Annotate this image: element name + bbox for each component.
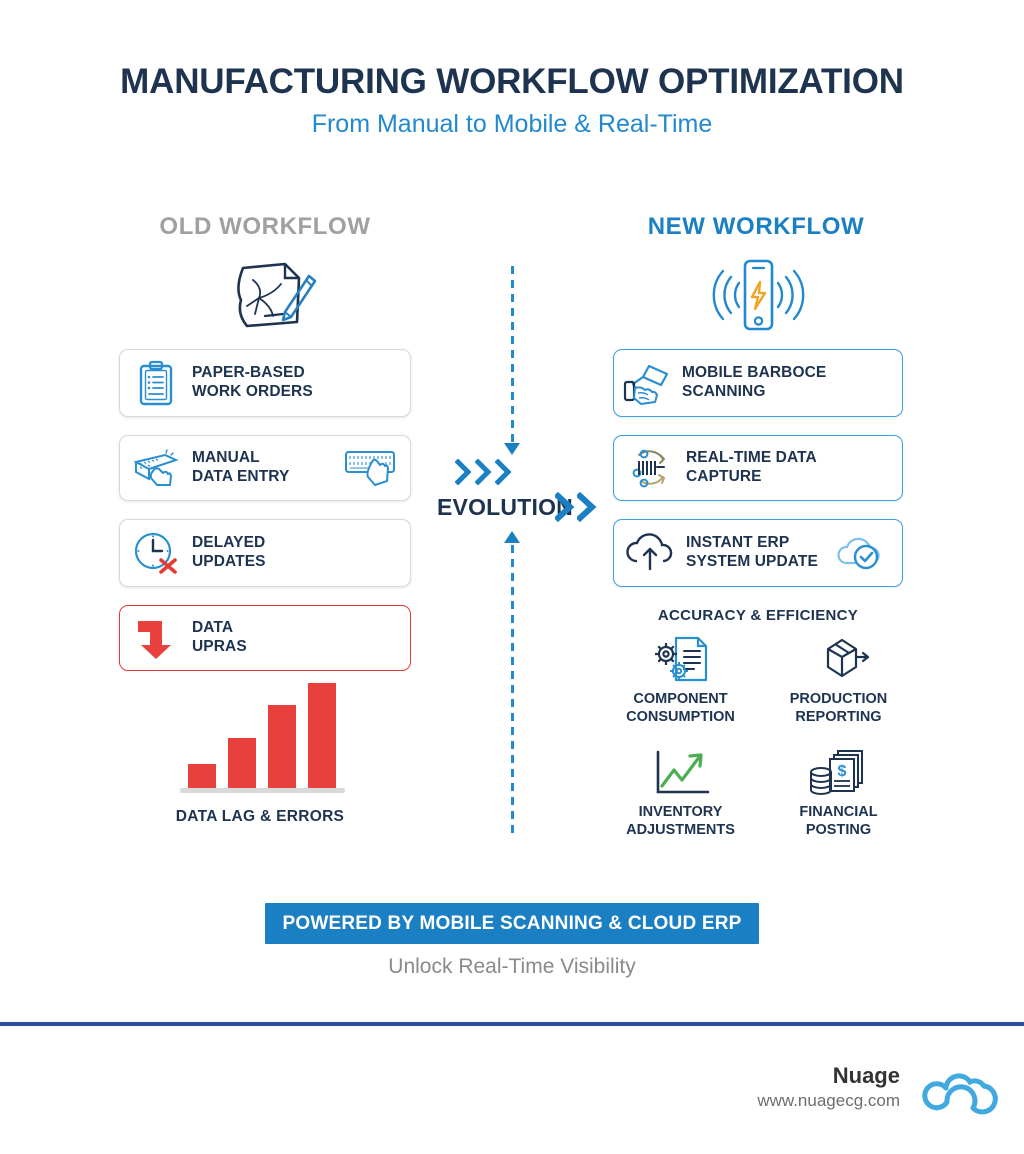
card-label: DATA UPRAS — [192, 619, 247, 657]
new-card-real-time-data-capture[interactable]: REAL-TIME DATA CAPTURE — [613, 435, 903, 501]
evolution-dashed-line-bottom — [511, 545, 514, 835]
chart-bar — [268, 705, 296, 788]
handheld-scanner-icon — [614, 360, 682, 406]
box-arrow-icon — [766, 632, 911, 690]
card-label-line1: PAPER-BASED — [192, 364, 305, 381]
powered-by-banner: POWERED BY MOBILE SCANNING & CLOUD ERP — [265, 903, 759, 944]
cloud-upload-icon — [614, 531, 686, 575]
document-gears-icon — [608, 632, 753, 690]
evolution-dashed-line-top — [511, 266, 514, 444]
benefit-label-line1: PRODUCTION — [790, 691, 887, 707]
chart-bar — [308, 683, 336, 788]
evolution-chevrons-inline — [555, 492, 597, 522]
card-label-line1: MANUAL — [192, 449, 260, 466]
keyboard-typing-icon — [344, 448, 410, 488]
card-label-line1: INSTANT ERP — [686, 534, 789, 551]
arrow-down-icon — [504, 443, 520, 455]
benefit-label-line1: COMPONENT — [633, 691, 727, 707]
old-workflow-heading: OLD WORKFLOW — [115, 213, 415, 241]
infographic-canvas: MANUFACTURING WORKFLOW OPTIMIZATION From… — [0, 0, 1024, 1154]
card-label: REAL-TIME DATA CAPTURE — [686, 449, 817, 487]
card-label-line1: REAL-TIME DATA — [686, 449, 817, 466]
chevron-right-icon — [555, 492, 575, 522]
benefit-label: PRODUCTION REPORTING — [790, 691, 887, 725]
card-label-line2: SYSTEM UPDATE — [686, 553, 818, 572]
coins-invoice-icon: $ — [766, 745, 911, 803]
footer-divider — [0, 1022, 1024, 1026]
benefit-component-consumption[interactable]: COMPONENT CONSUMPTION — [608, 632, 753, 726]
card-label-line1: DELAYED — [192, 534, 265, 551]
chart-title: DATA LAG & ERRORS — [120, 808, 400, 826]
evolution-chevrons-top — [455, 459, 513, 485]
evolution-label: EVOLUTION — [437, 494, 573, 521]
chevron-right-icon — [455, 459, 473, 485]
chart-bar — [228, 738, 256, 788]
card-label: INSTANT ERP SYSTEM UPDATE — [686, 534, 818, 572]
chevron-right-icon — [495, 459, 513, 485]
new-card-mobile-barcode-scanning[interactable]: MOBILE BARBOCE SCANNING — [613, 349, 903, 417]
cloud-check-icon — [832, 533, 902, 573]
card-label-line2: DATA ENTRY — [192, 468, 289, 487]
arrow-up-icon — [504, 531, 520, 543]
page-subtitle: From Manual to Mobile & Real-Time — [0, 110, 1024, 139]
tagline: Unlock Real-Time Visibility — [0, 955, 1024, 979]
benefit-label-line1: FINANCIAL — [799, 804, 877, 820]
down-arrow-icon — [120, 615, 192, 661]
footer-brand: Nuage www.nuagecg.com — [757, 1064, 900, 1111]
card-label-line1: DATA — [192, 619, 233, 636]
benefit-label: INVENTORY ADJUSTMENTS — [626, 804, 735, 838]
old-card-manual-data-entry[interactable]: MANUAL DATA ENTRY — [119, 435, 411, 501]
benefit-label-line2: CONSUMPTION — [626, 709, 735, 725]
nuage-cloud-logo-icon — [921, 1068, 999, 1131]
card-label-line1: MOBILE BARBOCE SCANNING — [682, 364, 826, 400]
brand-url: www.nuagecg.com — [757, 1090, 900, 1111]
growth-chart-icon — [608, 745, 753, 803]
data-lag-errors-chart — [180, 683, 345, 793]
chevron-right-icon — [577, 492, 597, 522]
old-card-data-upras[interactable]: DATA UPRAS — [119, 605, 411, 671]
new-card-instant-erp-system-update[interactable]: INSTANT ERP SYSTEM UPDATE — [613, 519, 903, 587]
brand-name: Nuage — [757, 1064, 900, 1088]
keyboard-hand-icon — [120, 448, 192, 488]
benefit-label-line2: ADJUSTMENTS — [626, 822, 735, 838]
benefit-inventory-adjustments[interactable]: INVENTORY ADJUSTMENTS — [608, 745, 753, 839]
benefit-label-line1: INVENTORY — [639, 804, 723, 820]
benefit-label-line2: REPORTING — [795, 709, 881, 725]
benefit-label-line2: POSTING — [806, 822, 871, 838]
barcode-refresh-icon — [614, 445, 686, 491]
clipboard-icon — [120, 360, 192, 406]
svg-text:$: $ — [837, 763, 846, 780]
benefit-financial-posting[interactable]: $ FINANCIAL POSTING — [766, 745, 911, 839]
card-label: MANUAL DATA ENTRY — [192, 449, 289, 487]
benefit-label: COMPONENT CONSUMPTION — [626, 691, 735, 725]
mobile-signal-bolt-icon — [703, 255, 813, 340]
new-workflow-heading: NEW WORKFLOW — [606, 213, 906, 241]
chevron-right-icon — [475, 459, 493, 485]
old-card-delayed-updates[interactable]: DELAYED UPDATES — [119, 519, 411, 587]
card-label: MOBILE BARBOCE SCANNING — [682, 364, 902, 402]
crumpled-paper-pen-icon — [225, 254, 320, 341]
page-title: MANUFACTURING WORKFLOW OPTIMIZATION — [0, 62, 1024, 102]
old-card-paper-based-work-orders[interactable]: PAPER-BASED WORK ORDERS — [119, 349, 411, 417]
chart-bar — [188, 764, 216, 788]
card-label-line2: UPRAS — [192, 638, 247, 657]
card-label-line2: WORK ORDERS — [192, 383, 313, 402]
accuracy-efficiency-heading: ACCURACY & EFFICIENCY — [613, 607, 903, 624]
benefit-production-reporting[interactable]: PRODUCTION REPORTING — [766, 632, 911, 726]
chart-baseline — [180, 788, 345, 793]
benefit-label: FINANCIAL POSTING — [799, 804, 877, 838]
card-label-line2: CAPTURE — [686, 468, 817, 487]
card-label: PAPER-BASED WORK ORDERS — [192, 364, 313, 402]
clock-error-icon — [120, 530, 192, 576]
card-label-line2: UPDATES — [192, 553, 266, 572]
card-label: DELAYED UPDATES — [192, 534, 266, 572]
